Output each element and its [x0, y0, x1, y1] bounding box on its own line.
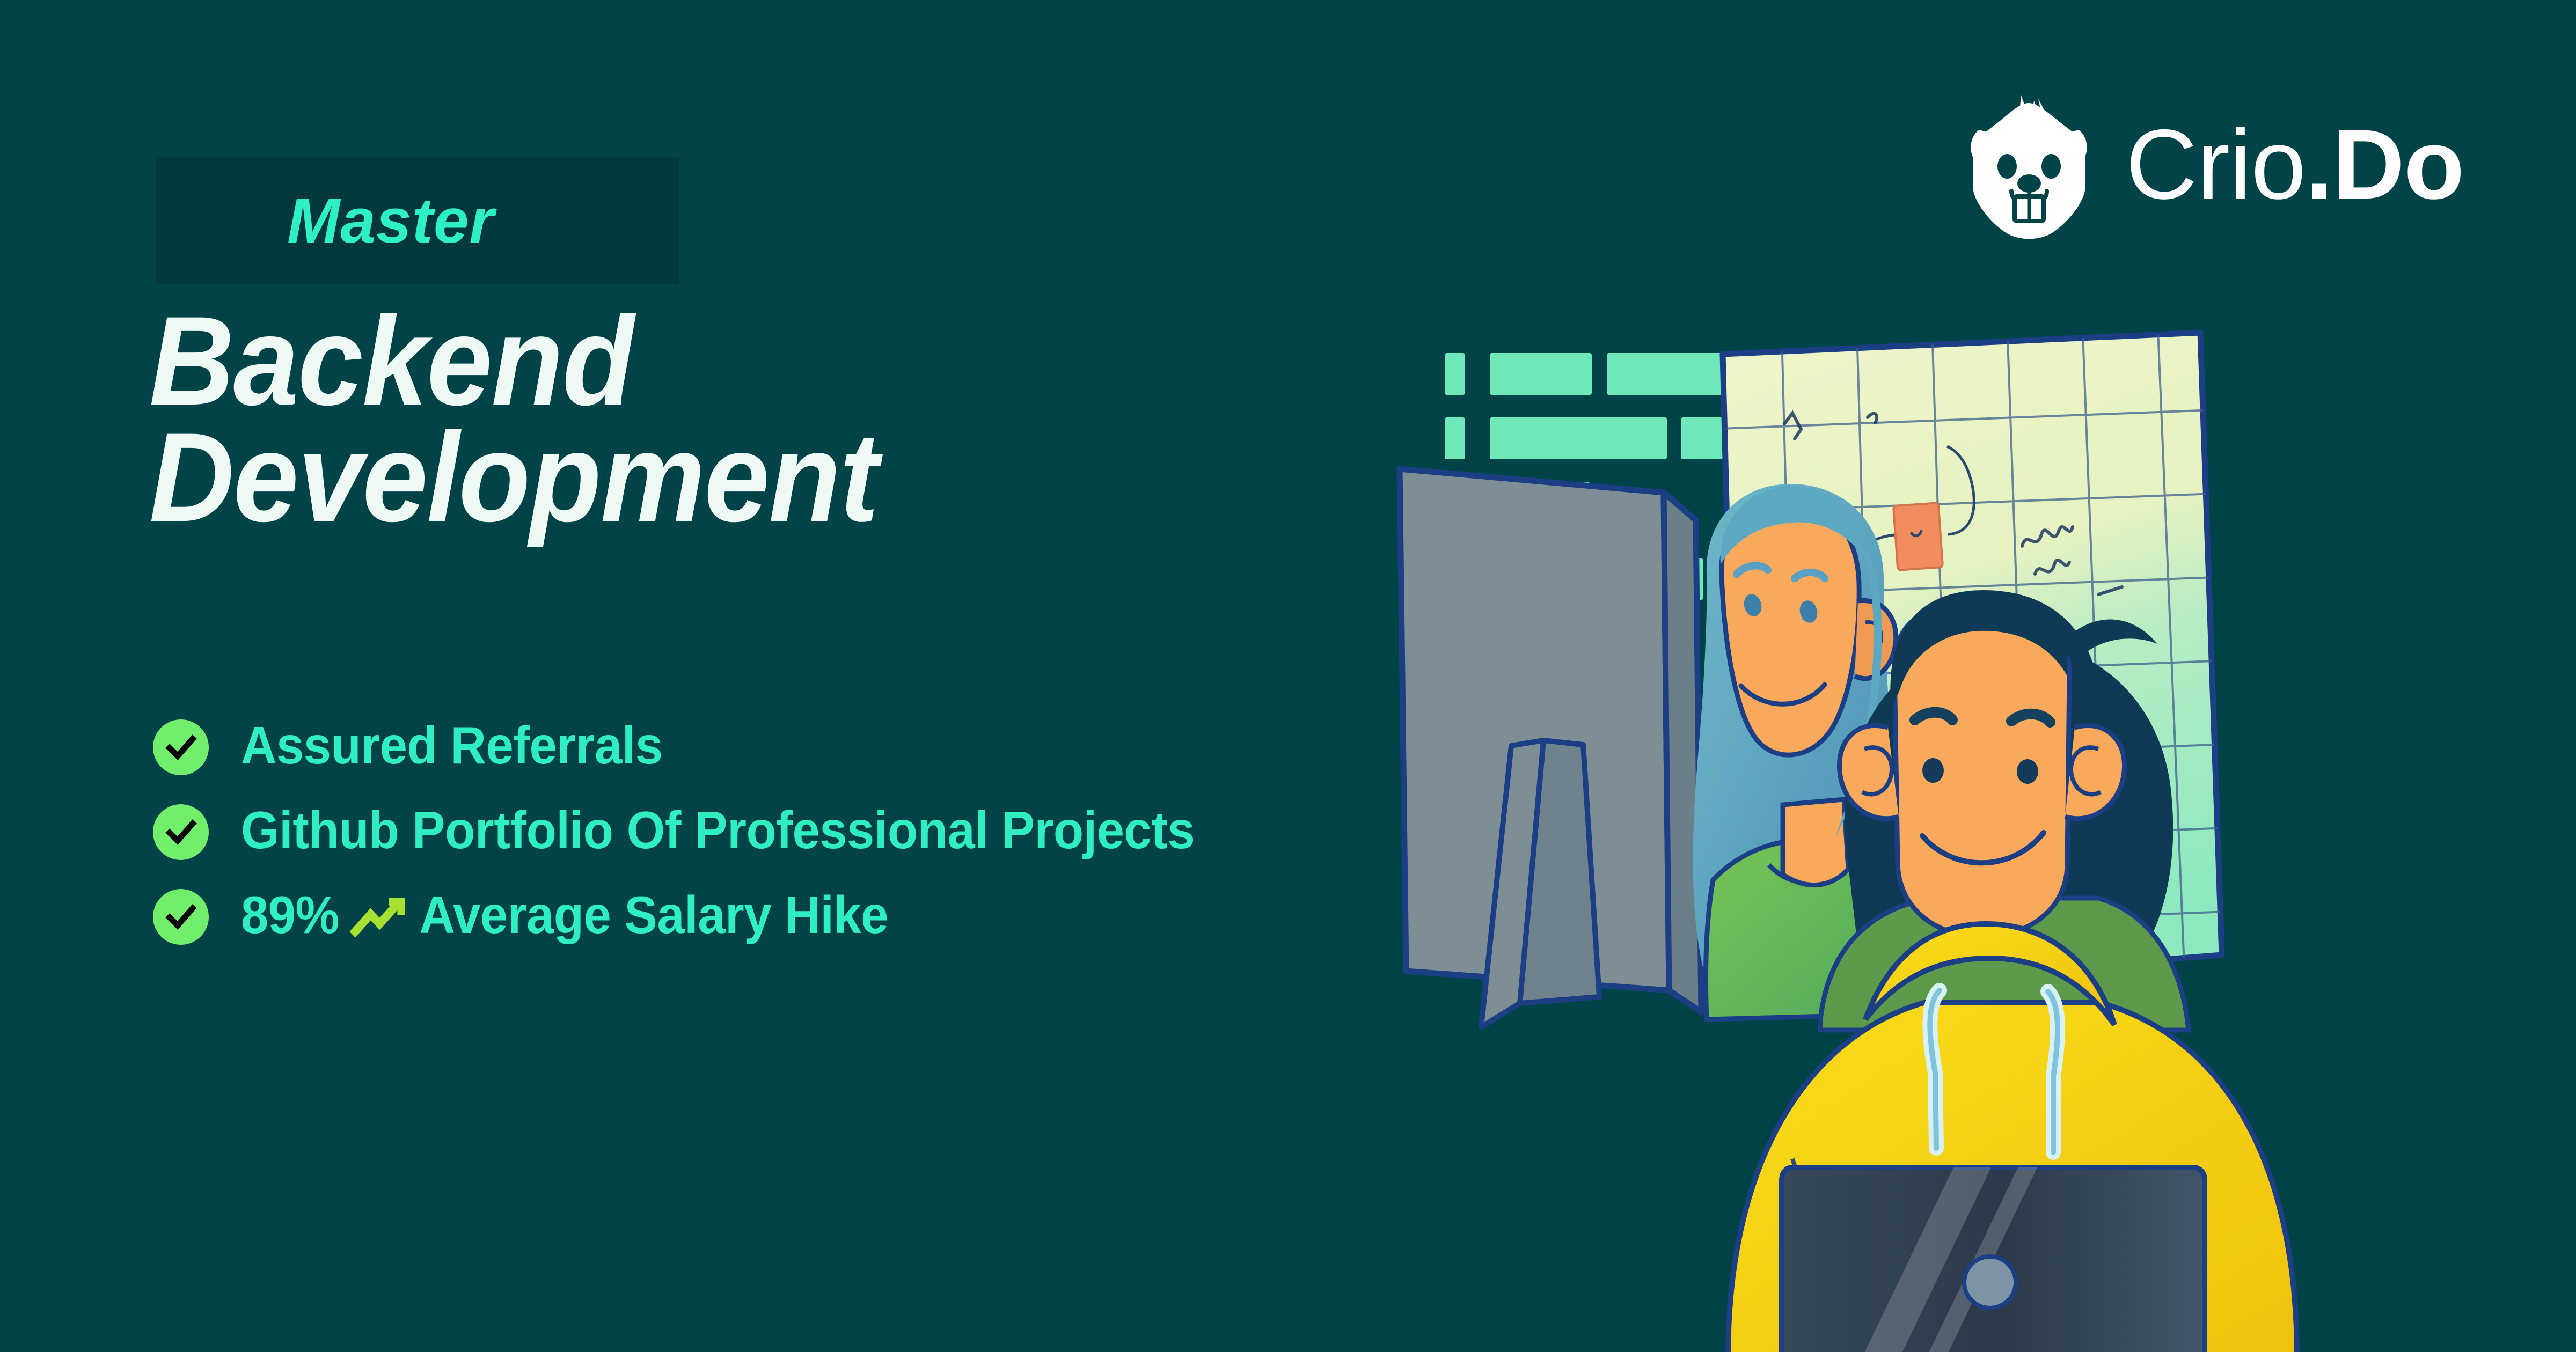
master-badge: Master	[156, 157, 679, 284]
check-circle-icon	[153, 889, 209, 945]
badge-label: Master	[287, 185, 494, 258]
logo-name-light: Crio	[2126, 115, 2306, 215]
feature-list: Assured Referrals Github Portfolio Of Pr…	[153, 716, 1387, 971]
headline-line-1: Backend	[149, 303, 1347, 420]
developers-working-illustration	[1385, 322, 2576, 1352]
trending-up-arrow-icon	[350, 894, 408, 937]
check-circle-icon	[153, 719, 209, 775]
laptop	[1782, 1167, 2205, 1352]
feature-label-3-wrap: 89% Average Salary Hike	[241, 886, 888, 945]
list-item: Assured Referrals	[153, 716, 1387, 775]
salary-hike-stat: 89%	[241, 886, 339, 945]
logo-name-bold: .Do	[2306, 115, 2464, 215]
list-item: Github Portfolio Of Professional Project…	[153, 801, 1387, 860]
monitor-back-view	[1400, 469, 1701, 1027]
list-item: 89% Average Salary Hike	[153, 886, 1387, 945]
feature-label-2: Github Portfolio Of Professional Project…	[241, 801, 1195, 860]
check-circle-icon	[153, 804, 209, 860]
promo-banner: Crio.Do Master Backend Development Assur…	[0, 0, 2576, 1352]
headline-line-2: Development	[149, 420, 1347, 536]
beaver-mascot-icon	[1958, 91, 2100, 239]
salary-hike-label: Average Salary Hike	[419, 886, 888, 945]
page-title: Backend Development	[149, 303, 1347, 536]
crio-logo[interactable]: Crio.Do	[1958, 91, 2464, 239]
logo-wordmark: Crio.Do	[2126, 115, 2464, 215]
feature-label-1: Assured Referrals	[241, 716, 663, 775]
